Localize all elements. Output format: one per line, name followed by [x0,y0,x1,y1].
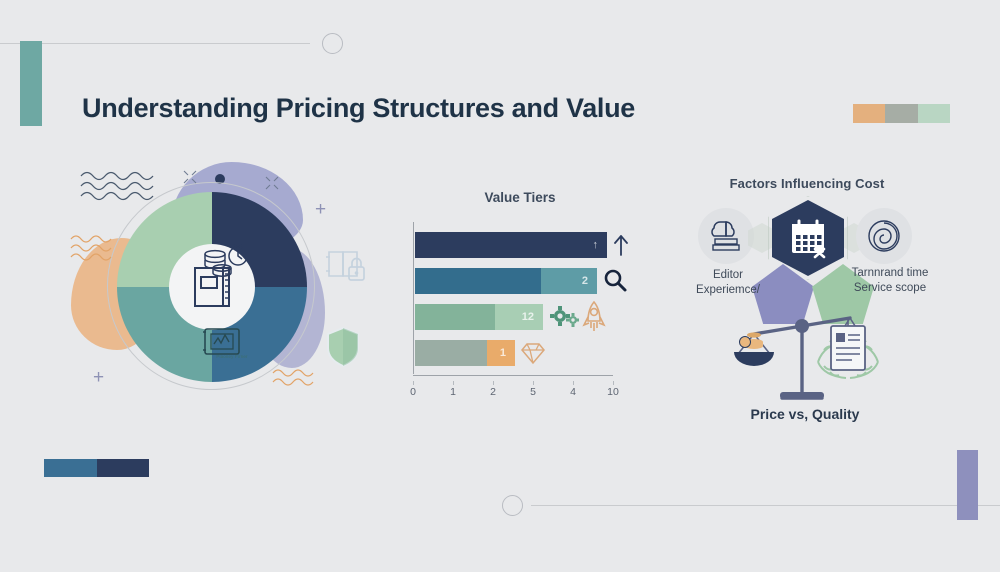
bar-segment-highlight: 12 [495,304,543,330]
sparkle-icon [263,174,281,192]
factor-right-circle[interactable] [856,208,912,264]
bar-segment-base [415,268,541,294]
chart-plot-area: ↑2121 0125410 [413,228,627,376]
x-axis-tickmark [413,381,414,385]
x-axis-tick-label: 1 [450,386,456,398]
x-axis-tickmark [453,381,454,385]
bar-value-label: 2 [582,275,597,287]
bottom-rule [531,505,1000,506]
page-title: Understanding Pricing Structures and Val… [82,93,635,124]
bar-value-label: 12 [522,311,543,323]
x-axis-tick-label: 5 [530,386,536,398]
factor-left-circle[interactable] [698,208,754,264]
x-axis-tick-label: 10 [607,386,619,398]
bar-row[interactable]: 2 [415,268,597,294]
factor-right-label-line1: Tarnnrand time [824,266,956,281]
balance-scale-icon [718,306,898,412]
top-left-accent-bar [20,41,42,126]
coins-icon [740,332,764,349]
bar-value-label: 1 [500,347,515,359]
document-icon [831,320,865,370]
x-axis-tick-labels: 0125410 [413,381,613,397]
swatch-grey-green [885,104,917,123]
factor-left-label: Editor Experiemce/ [666,268,790,298]
bar-segment-base [415,304,495,330]
plus-mark-icon: + [93,368,104,387]
sparkle-icon [181,168,199,186]
wheel-micro-label: Plaoney Firner [205,354,259,359]
coins-and-clock-icon [203,244,249,278]
x-axis-tickmark [493,381,494,385]
top-rule [0,43,310,44]
bar-segment-base: ↑ [415,232,607,258]
plus-mark-icon: + [315,200,326,219]
x-axis-tick-label: 0 [410,386,416,398]
factors-title: Factors Influencing Cost [672,176,942,191]
factor-right-label: Tarnnrand time Service scope [824,266,956,296]
bar-row[interactable]: 1 [415,340,515,366]
magnifier-icon [603,269,627,293]
x-axis-tick-label: 4 [570,386,576,398]
price-vs-quality-label: Price vs, Quality [690,406,920,422]
x-axis-tickmark [613,381,614,385]
chart-title: Value Tiers [395,190,645,205]
rocket-icon [583,301,605,333]
x-axis-tick-label: 2 [490,386,496,398]
x-axis-tickmark [573,381,574,385]
bar-row-icons [613,232,629,258]
bar-row[interactable]: 12 [415,304,543,330]
slide-canvas: Understanding Pricing Structures and Val… [0,0,1000,572]
factor-right-label-line2: Service scope [824,281,956,296]
factors-influencing-cost: Factors Influencing Cost [672,176,942,316]
x-axis-line [413,375,613,376]
bottom-right-accent-bar [957,450,978,520]
x-axis-tickmark [533,381,534,385]
swatch-mint [918,104,950,123]
top-circle-marker [322,33,343,54]
swatch-navy [97,459,150,477]
price-vs-quality-illustration [718,306,898,416]
arrow-up-icon [613,234,629,256]
brain-and-books-icon [707,218,745,254]
value-tiers-chart: Value Tiers ↑2121 0125410 [395,190,645,405]
factor-left-label-line2: Experiemce/ [666,283,790,298]
factor-left-label-line1: Editor [666,268,790,283]
shield-icon [325,326,361,368]
bar-row-icons [549,304,605,330]
spiral-icon [866,218,902,254]
top-right-color-swatches [853,104,950,123]
bottom-circle-marker [502,495,523,516]
bar-segment-highlight: 2 [541,268,597,294]
bar-row[interactable]: ↑ [415,232,607,258]
calendar-icon [789,219,827,257]
bar-row-icons [603,268,627,294]
squiggle-lines-orange [69,232,115,262]
bar-segment-highlight: 1 [487,340,515,366]
swatch-steel-blue [44,459,97,477]
bar-segment-base [415,340,487,366]
book-with-lock-icon [325,246,369,284]
swatch-orange [853,104,885,123]
pricing-value-wheel: + + [75,160,315,410]
bar-value-label: ↑ [593,239,608,251]
bar-row-icons [521,340,545,366]
bottom-left-color-swatches [44,459,149,477]
diamond-icon [521,342,545,364]
gears-icon [549,306,579,328]
